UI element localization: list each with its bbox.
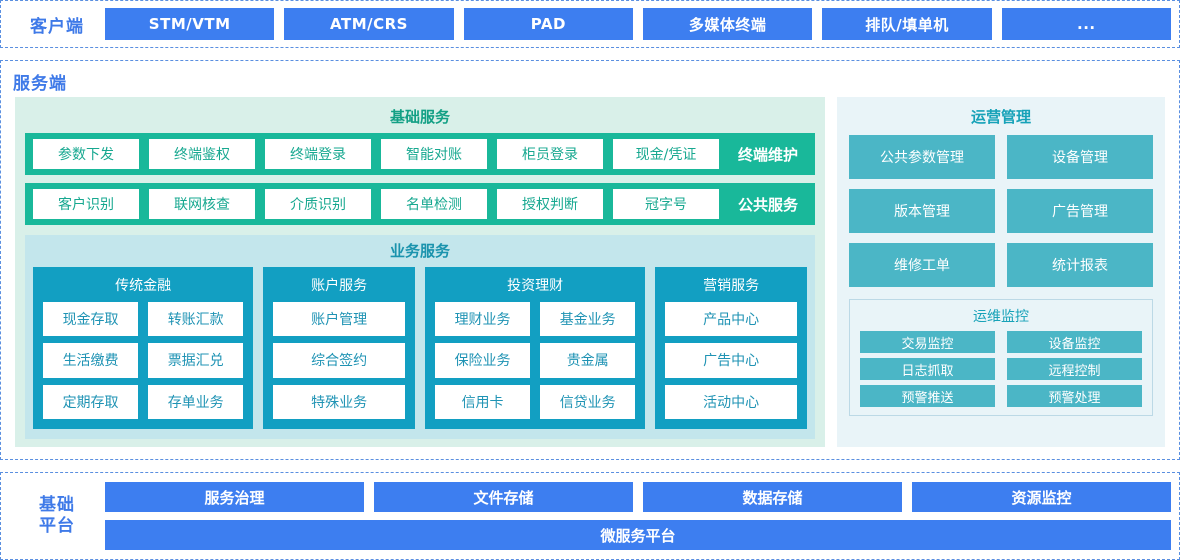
mon-transaction-monitoring[interactable]: 交易监控 <box>860 331 995 353</box>
services-panel: 基础服务 参数下发 终端鉴权 终端登录 智能对账 柜员登录 现金/凭证 终端维护… <box>15 97 825 447</box>
basic-services-tag-terminal-maintenance: 终端维护 <box>729 144 807 165</box>
monitoring-title: 运维监控 <box>860 304 1142 331</box>
biz-time-deposit[interactable]: 定期存取 <box>43 385 138 419</box>
platform-resource-monitoring[interactable]: 资源监控 <box>912 482 1171 512</box>
biz-bill-exchange[interactable]: 票据汇兑 <box>148 343 243 377</box>
mon-device-monitoring[interactable]: 设备监控 <box>1007 331 1142 353</box>
basic-services-title: 基础服务 <box>25 103 815 133</box>
operations-management-panel: 运营管理 公共参数管理 设备管理 版本管理 广告管理 维修工单 统计报表 <box>837 97 1165 447</box>
client-item-more[interactable]: ... <box>1002 8 1171 40</box>
client-item-multimedia-terminal[interactable]: 多媒体终端 <box>643 8 812 40</box>
platform-service-governance[interactable]: 服务治理 <box>105 482 364 512</box>
service-customer-identification[interactable]: 客户识别 <box>33 189 139 219</box>
service-cash-voucher[interactable]: 现金/凭证 <box>613 139 719 169</box>
business-column-title-traditional-finance: 传统金融 <box>43 273 243 302</box>
biz-certificate-deposit[interactable]: 存单业务 <box>148 385 243 419</box>
basic-services-tag-public-service: 公共服务 <box>729 194 807 215</box>
biz-fund-business[interactable]: 基金业务 <box>540 302 635 336</box>
business-services-panel: 业务服务 传统金融 现金存取 转账汇款 生活缴费 <box>25 235 815 439</box>
business-column-title-investment-finance: 投资理财 <box>435 273 635 302</box>
mon-log-capture[interactable]: 日志抓取 <box>860 358 995 380</box>
business-services-title: 业务服务 <box>33 237 807 267</box>
mon-remote-control[interactable]: 远程控制 <box>1007 358 1142 380</box>
service-list-check[interactable]: 名单检测 <box>381 189 487 219</box>
basic-services-row-public-service: 客户识别 联网核查 介质识别 名单检测 授权判断 冠字号 公共服务 <box>25 183 815 225</box>
ops-public-parameter-management[interactable]: 公共参数管理 <box>849 135 995 179</box>
platform-microservice-platform[interactable]: 微服务平台 <box>105 520 1171 550</box>
ops-device-management[interactable]: 设备管理 <box>1007 135 1153 179</box>
service-smart-reconciliation[interactable]: 智能对账 <box>381 139 487 169</box>
platform-items: 服务治理 文件存储 数据存储 资源监控 <box>105 482 1171 512</box>
business-column-title-marketing-service: 营销服务 <box>665 273 797 302</box>
client-item-pad[interactable]: PAD <box>464 8 633 40</box>
service-terminal-login[interactable]: 终端登录 <box>265 139 371 169</box>
service-teller-login[interactable]: 柜员登录 <box>497 139 603 169</box>
service-online-verification[interactable]: 联网核查 <box>149 189 255 219</box>
server-layer: 服务端 基础服务 参数下发 终端鉴权 终端登录 智能对账 柜员登录 现金/凭证 … <box>0 60 1180 460</box>
server-layer-label: 服务端 <box>13 69 67 94</box>
biz-product-center[interactable]: 产品中心 <box>665 302 797 336</box>
ops-advertising-management[interactable]: 广告管理 <box>1007 189 1153 233</box>
biz-precious-metals[interactable]: 贵金属 <box>540 343 635 377</box>
platform-label-line2: 平台 <box>9 516 105 537</box>
biz-advertising-center[interactable]: 广告中心 <box>665 343 797 377</box>
architecture-diagram: 客户端 STM/VTM ATM/CRS PAD 多媒体终端 排队/填单机 ...… <box>0 0 1180 560</box>
platform-layer: 基础 平台 服务治理 文件存储 数据存储 资源监控 微服务平台 <box>0 472 1180 560</box>
biz-transfer-remittance[interactable]: 转账汇款 <box>148 302 243 336</box>
basic-services-row-terminal-maintenance: 参数下发 终端鉴权 终端登录 智能对账 柜员登录 现金/凭证 终端维护 <box>25 133 815 175</box>
service-media-recognition[interactable]: 介质识别 <box>265 189 371 219</box>
platform-file-storage[interactable]: 文件存储 <box>374 482 633 512</box>
client-item-queue-form-machine[interactable]: 排队/填单机 <box>822 8 991 40</box>
mon-alert-handling[interactable]: 预警处理 <box>1007 385 1142 407</box>
platform-layer-label: 基础 平台 <box>9 495 105 538</box>
client-item-atm-crs[interactable]: ATM/CRS <box>284 8 453 40</box>
operations-management-title: 运营管理 <box>849 103 1153 135</box>
biz-credit-business[interactable]: 信贷业务 <box>540 385 635 419</box>
biz-account-management[interactable]: 账户管理 <box>273 302 405 336</box>
business-column-investment-finance: 投资理财 理财业务 基金业务 保险业务 贵金属 <box>425 267 645 429</box>
business-column-account-service: 账户服务 账户管理 综合签约 特殊业务 <box>263 267 415 429</box>
biz-comprehensive-signing[interactable]: 综合签约 <box>273 343 405 377</box>
platform-label-line1: 基础 <box>9 495 105 516</box>
client-layer: 客户端 STM/VTM ATM/CRS PAD 多媒体终端 排队/填单机 ... <box>0 0 1180 48</box>
business-column-traditional-finance: 传统金融 现金存取 转账汇款 生活缴费 票据汇兑 <box>33 267 253 429</box>
ops-statistical-report[interactable]: 统计报表 <box>1007 243 1153 287</box>
platform-data-storage[interactable]: 数据存储 <box>643 482 902 512</box>
biz-living-payment[interactable]: 生活缴费 <box>43 343 138 377</box>
biz-special-business[interactable]: 特殊业务 <box>273 385 405 419</box>
business-column-title-account-service: 账户服务 <box>273 273 405 302</box>
ops-version-management[interactable]: 版本管理 <box>849 189 995 233</box>
service-param-dispatch[interactable]: 参数下发 <box>33 139 139 169</box>
business-column-marketing-service: 营销服务 产品中心 广告中心 活动中心 <box>655 267 807 429</box>
biz-wealth-management[interactable]: 理财业务 <box>435 302 530 336</box>
client-items: STM/VTM ATM/CRS PAD 多媒体终端 排队/填单机 ... <box>105 8 1171 40</box>
service-terminal-auth[interactable]: 终端鉴权 <box>149 139 255 169</box>
client-layer-label: 客户端 <box>9 12 105 37</box>
biz-credit-card[interactable]: 信用卡 <box>435 385 530 419</box>
monitoring-panel: 运维监控 交易监控 设备监控 日志抓取 远程控制 预警推送 预警处理 <box>849 299 1153 416</box>
client-item-stm-vtm[interactable]: STM/VTM <box>105 8 274 40</box>
biz-cash-deposit-withdrawal[interactable]: 现金存取 <box>43 302 138 336</box>
biz-campaign-center[interactable]: 活动中心 <box>665 385 797 419</box>
mon-alert-push[interactable]: 预警推送 <box>860 385 995 407</box>
biz-insurance-business[interactable]: 保险业务 <box>435 343 530 377</box>
service-serial-number[interactable]: 冠字号 <box>613 189 719 219</box>
service-authorization-judgment[interactable]: 授权判断 <box>497 189 603 219</box>
ops-repair-work-order[interactable]: 维修工单 <box>849 243 995 287</box>
